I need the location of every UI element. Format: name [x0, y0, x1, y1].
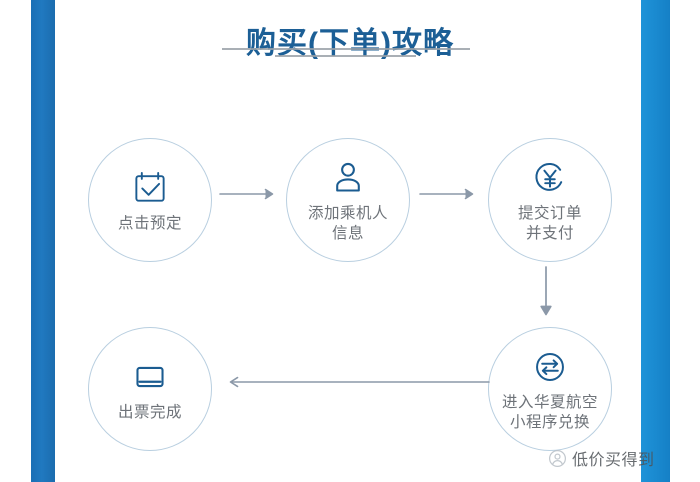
connector-arrow-down [538, 266, 554, 327]
flow-node-pay[interactable]: 提交订单 并支付 [488, 138, 612, 262]
ticket-card-icon [128, 355, 172, 399]
rounded-account-logo [548, 449, 567, 468]
infographic-canvas: 购买(下单)攻略 点击预定 添加乘机人 信息 [0, 0, 700, 482]
person-icon [326, 156, 370, 200]
watermark: 低价买得到 [548, 446, 655, 470]
flow-node-passenger[interactable]: 添加乘机人 信息 [286, 138, 410, 262]
title-block: 购买(下单)攻略 [0, 24, 700, 64]
page-title: 购买(下单)攻略 [0, 24, 700, 64]
calendar-check-icon [128, 166, 172, 210]
flow-node-label: 出票完成 [118, 403, 182, 423]
title-underline-top [222, 48, 470, 50]
connector-arrow-right-2 [419, 186, 481, 207]
flow-node-done[interactable]: 出票完成 [88, 327, 212, 451]
right-blue-bar [641, 0, 670, 482]
left-blue-bar [31, 0, 55, 482]
flow-node-book[interactable]: 点击预定 [88, 138, 212, 262]
flow-node-exchange[interactable]: 进入华夏航空 小程序兑换 [488, 327, 612, 451]
connector-arrow-right-1 [219, 186, 281, 207]
flow-node-label: 点击预定 [118, 214, 182, 234]
title-underline-bottom [275, 55, 416, 57]
flow-node-label: 提交订单 并支付 [518, 204, 582, 244]
watermark-text: 低价买得到 [572, 446, 655, 470]
flow-node-label: 进入华夏航空 小程序兑换 [502, 393, 598, 433]
yuan-payment-icon [528, 156, 572, 200]
exchange-arrows-icon [528, 345, 572, 389]
connector-arrow-left [222, 374, 490, 395]
flow-node-label: 添加乘机人 信息 [308, 204, 388, 244]
